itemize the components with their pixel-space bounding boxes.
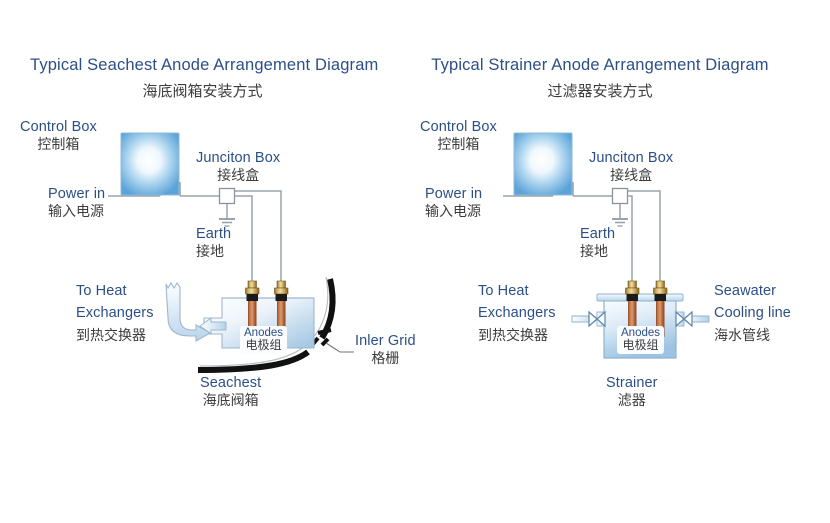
heat-exchanger-label-left-en1: To Heat: [76, 283, 154, 300]
anodes-label-left-cn: 电极组: [244, 339, 283, 352]
anode-wire-1-right: [628, 196, 633, 281]
anode-2-brass-nut: [275, 288, 289, 294]
anode-wire-1-left: [235, 196, 253, 281]
strainer-title-en: Typical Strainer Anode Arrangement Diagr…: [430, 56, 770, 75]
inlet-grid-label: Inler Grid 格栅: [355, 333, 416, 367]
junction-box-label-right-cn: 接线盒: [589, 167, 673, 184]
heat-exchanger-label-left-cn: 到热交换器: [76, 327, 154, 344]
seachest-label-en: Seachest: [200, 375, 261, 392]
anode-wire-2-left: [235, 191, 282, 281]
control-box-left: [121, 133, 179, 195]
power-in-label-right-en: Power in: [425, 186, 482, 203]
anode-2-band: [276, 294, 288, 301]
control-box-label-left-en: Control Box: [20, 119, 97, 136]
heat-exchanger-label-right-en1: To Heat: [478, 283, 556, 300]
diagram-canvas: Typical Seachest Anode Arrangement Diagr…: [0, 0, 830, 523]
outlet-valve-triangle-a: [589, 312, 597, 326]
junction-box-label-right-en: Junciton Box: [589, 150, 673, 167]
anode-2-brass-top: [277, 281, 286, 288]
earth-label-left: Earth 接地: [196, 226, 231, 260]
strainer-label: Strainer 滤器: [606, 375, 658, 409]
strainer-label-cn: 滤器: [606, 392, 658, 409]
heat-exchanger-label-right: To Heat Exchangers 到热交换器: [478, 283, 556, 344]
control-box-label-left: Control Box 控制箱: [20, 119, 97, 153]
inlet-grid-leader: [326, 343, 354, 352]
seachest-title: Typical Seachest Anode Arrangement Diagr…: [30, 56, 375, 101]
anode-1r-brass-nut: [626, 288, 640, 294]
seachest-label-cn: 海底阀箱: [200, 392, 261, 409]
heat-exchanger-label-left-en2: Exchangers: [76, 305, 154, 322]
strainer-title-cn: 过滤器安装方式: [430, 80, 770, 101]
control-box-label-right-en: Control Box: [420, 119, 497, 136]
inlet-valve-triangle-b: [684, 312, 692, 326]
earth-label-left-en: Earth: [196, 226, 231, 243]
anodes-label-right-cn: 电极组: [621, 339, 660, 352]
junction-box-label-left-en: Junciton Box: [196, 150, 280, 167]
seawater-cooling-label: Seawater Cooling line 海水管线: [714, 283, 791, 344]
strainer-lid-flange: [597, 294, 683, 301]
control-box-right: [514, 133, 572, 195]
junction-box-label-left: Junciton Box 接线盒: [196, 150, 280, 184]
anode-2r-band: [655, 294, 667, 301]
junction-box-right: [613, 189, 628, 204]
inlet-grid-label-cn: 格栅: [355, 350, 416, 367]
anode-1-band: [247, 294, 259, 301]
heat-exchanger-label-left: To Heat Exchangers 到热交换器: [76, 283, 154, 344]
inlet-grid-bar-1: [318, 330, 331, 333]
anode-1r-band: [627, 294, 639, 301]
anode-2r-brass-top: [656, 281, 665, 288]
earth-label-right: Earth 接地: [580, 226, 615, 260]
inlet-grid-label-en: Inler Grid: [355, 333, 416, 350]
anode-1-brass-nut: [246, 288, 260, 294]
anode-1-brass-top: [248, 281, 257, 288]
power-in-label-left-en: Power in: [48, 186, 105, 203]
power-in-label-right-cn: 输入电源: [425, 203, 482, 220]
anode-1r-brass-top: [628, 281, 637, 288]
anode-2r-brass-nut: [654, 288, 668, 294]
power-in-label-right: Power in 输入电源: [425, 186, 482, 220]
anodes-label-right: Anodes 电极组: [617, 326, 664, 354]
junction-box-label-right: Junciton Box 接线盒: [589, 150, 673, 184]
earth-label-left-cn: 接地: [196, 243, 231, 260]
seachest-title-en: Typical Seachest Anode Arrangement Diagr…: [30, 56, 375, 75]
control-box-label-left-cn: 控制箱: [20, 136, 97, 153]
seachest-title-cn: 海底阀箱安装方式: [30, 80, 375, 101]
junction-box-label-left-cn: 接线盒: [196, 167, 280, 184]
control-box-label-right: Control Box 控制箱: [420, 119, 497, 153]
power-in-label-left: Power in 输入电源: [48, 186, 105, 220]
seawater-cooling-label-cn: 海水管线: [714, 327, 791, 344]
heat-exchanger-label-right-cn: 到热交换器: [478, 327, 556, 344]
heat-exchanger-label-right-en2: Exchangers: [478, 305, 556, 322]
seawater-cooling-label-en2: Cooling line: [714, 305, 791, 322]
anodes-label-left: Anodes 电极组: [240, 326, 287, 354]
seachest-label: Seachest 海底阀箱: [200, 375, 261, 409]
strainer-label-en: Strainer: [606, 375, 658, 392]
strainer-title: Typical Strainer Anode Arrangement Diagr…: [430, 56, 770, 101]
power-in-label-left-cn: 输入电源: [48, 203, 105, 220]
earth-label-right-cn: 接地: [580, 243, 615, 260]
control-box-label-right-cn: 控制箱: [420, 136, 497, 153]
seawater-cooling-label-en1: Seawater: [714, 283, 791, 300]
junction-box-left: [220, 189, 235, 204]
earth-label-right-en: Earth: [580, 226, 615, 243]
heat-exchanger-pipe-left: [166, 283, 210, 341]
